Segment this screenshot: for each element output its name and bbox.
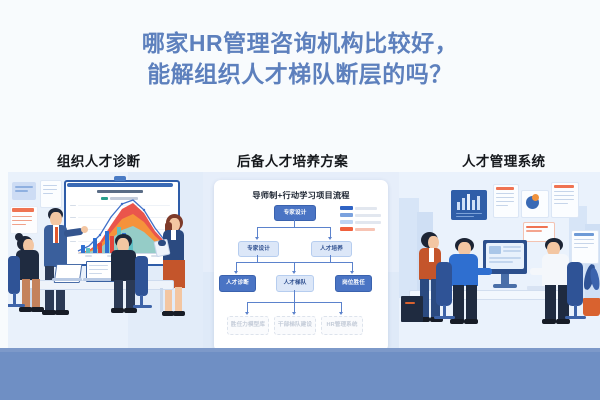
flowchart-legend-item [340,220,381,224]
wall-doc-orange-line [526,226,548,228]
plant-pot [583,298,600,316]
x-axis-tick-label [85,255,92,257]
wall-doc-orange-line [526,230,542,232]
seated-male-legs [114,280,123,310]
chair-base [133,305,152,308]
chart-bar [93,238,97,253]
flow-arrow [292,312,296,315]
wall-doc-blue-line [15,186,33,188]
flow-connector [257,227,331,228]
seated-male-shoe [111,308,124,313]
monitor-content-line [489,246,501,254]
wall-chart-bar [472,200,475,210]
city-block [399,198,419,298]
office-male-left-arm [474,268,492,275]
pie-chart-slice [532,194,539,201]
female-right-legs [165,287,172,313]
wall-chart-bar [462,198,465,210]
female-right-arm [158,240,166,246]
presenter-hand [81,226,88,233]
legend-swatch-1 [340,213,353,217]
cabinet-handle [405,302,415,304]
monitor-base [493,284,517,288]
illustration-band: 导师制+行动学习项目流程 [0,172,600,360]
flow-connector [294,290,295,302]
wall-chart-bar [467,194,470,210]
cabinet [401,296,423,322]
poster-canvas: 哪家HR管理咨询机构比较好， 能解组织人才梯队断层的吗？ 组织人才诊断 后备人才… [0,0,600,400]
seated-female-legs [32,279,40,309]
headline-line-1: 哪家HR管理咨询机构比较好， [0,28,600,59]
office-male-right-shoe [542,319,556,324]
table-leg [160,288,163,312]
office-male-right-arm [530,268,546,275]
office-female-collar [429,248,434,262]
presenter-tie [55,227,58,243]
legend-swatch-2 [340,220,353,224]
office-male-right-body [542,254,569,286]
wall-doc-orange-bar [12,208,34,212]
flowchart-legend-item [340,213,381,217]
office-male-right-shoe [556,319,570,324]
office-chair-right [567,262,583,306]
female-right-legs [175,287,182,313]
flow-node-row4-1[interactable]: 干部梯队建设 [274,316,316,335]
flow-node-row2-1[interactable]: 人才培养 [311,241,352,257]
flow-node-row3-2[interactable]: 岗位胜任 [335,275,372,292]
scene-talent-management-system [399,172,600,360]
seated-female-bun [15,233,23,241]
presenter-shoe [42,310,56,315]
wall-chart-bar [477,196,480,210]
chart-bar [105,231,109,253]
flow-node-row4-2[interactable]: HR管理系统 [321,316,363,335]
chair-base [565,316,586,319]
office-chair-left [8,256,20,294]
presenter-head [50,212,62,226]
monitor-content-line [503,250,521,252]
section-caption-training: 后备人才培养方案 [237,150,348,170]
flow-arrow [350,271,354,274]
chair-base [8,304,25,307]
flow-node-row4-0[interactable]: 胜任力模型库 [227,316,269,335]
seated-male-shoe [124,308,137,313]
wall-doc-2-bar [554,185,574,188]
monitor-content-line [489,261,513,263]
wall-chart-bar [457,202,460,210]
flow-node-row3-1[interactable]: 人才梯队 [276,275,314,292]
office-male-right-legs [545,285,556,321]
flow-arrow [255,237,259,240]
flow-node-row2-0[interactable]: 专家设计 [238,241,279,257]
flow-arrow [339,312,343,315]
floor-band [0,352,600,400]
wall-doc-1-bar [496,187,514,190]
female-right-collar [171,230,176,240]
flow-arrow [234,271,238,274]
monitor-stand [501,274,509,284]
flowchart-legend-item [340,206,377,210]
wall-doc-3-bar [574,233,594,236]
chart-bar [81,245,85,253]
section-caption-system: 人才管理系统 [462,150,545,170]
legend-swatch-0 [340,206,353,210]
legend-label-0 [355,207,377,210]
flowchart-card: 导师制+行动学习项目流程 [214,180,388,352]
office-chair-right [135,256,148,296]
legend-label-1 [355,214,381,217]
scene-organization-diagnosis [8,172,203,360]
legend-label-2 [355,221,381,224]
flow-connector [257,255,258,262]
office-male-left-legs [466,285,477,321]
flow-arrow [292,271,296,274]
scene-talent-training-plan: 导师制+行动学习项目流程 [203,172,399,360]
monitor-content-line [503,246,521,248]
presenter-shoe [55,310,69,315]
headline-line-2: 能解组织人才梯队断层的吗？ [0,59,600,90]
legend-swatch-3 [340,227,353,231]
flowchart-title: 导师制+行动学习项目流程 [214,189,388,201]
flow-node-row3-0[interactable]: 人才诊断 [219,275,256,292]
legend-label-3 [355,228,375,231]
seated-male-body [111,250,136,281]
monitor-content-line [489,257,521,259]
flow-connector [330,255,331,262]
chair-base [434,316,455,319]
seated-female-shoe [31,307,44,312]
page-title: 哪家HR管理咨询机构比较好， 能解组织人才梯队断层的吗？ [0,28,600,90]
wall-doc-blue-line [15,190,28,192]
flow-node-row1-0[interactable]: 专家设计 [274,205,316,221]
chart-bar [98,243,102,253]
flow-arrow [328,237,332,240]
section-caption-diagnosis: 组织人才诊断 [57,150,140,170]
female-right-shoe [173,311,185,316]
flow-arrow [245,312,249,315]
office-male-left-shoe [450,319,464,324]
office-male-left-shoe [464,319,478,324]
whiteboard-mount [114,176,126,181]
flowchart-legend-item [340,227,375,231]
office-chair-left [436,262,452,306]
